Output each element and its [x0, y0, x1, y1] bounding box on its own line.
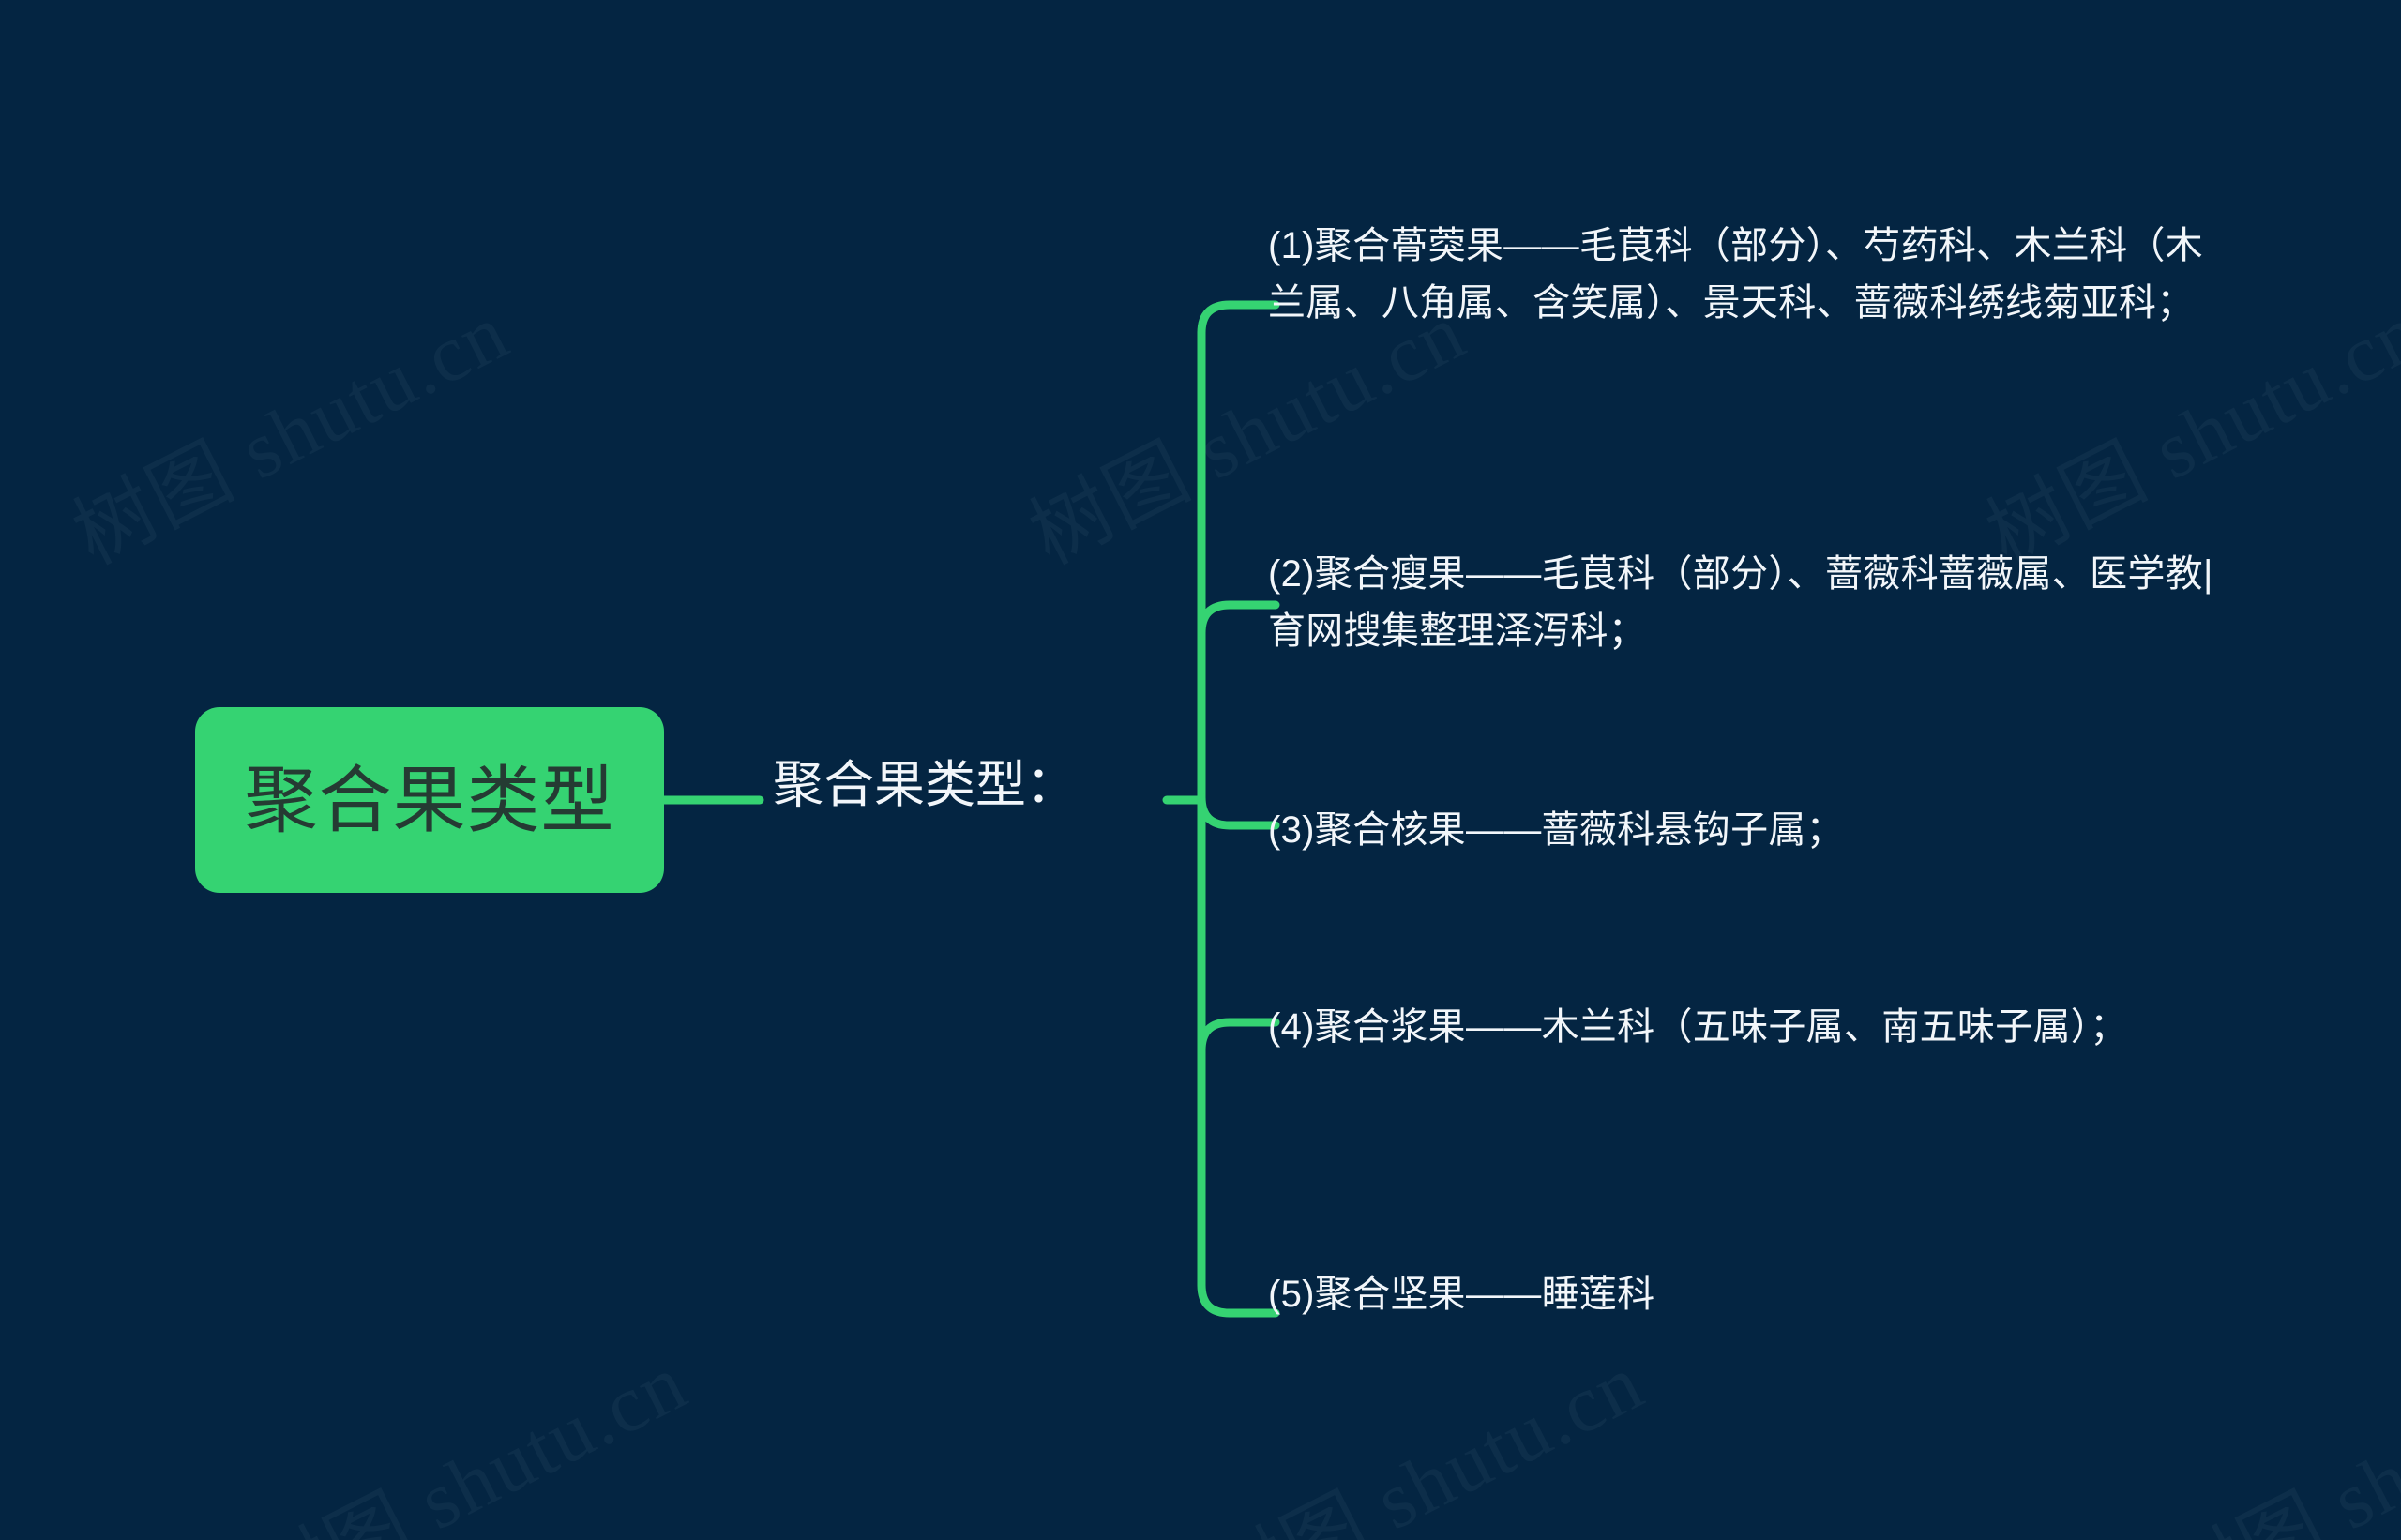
leaf-node-5-label: (5)聚合坚果——睡莲科: [1268, 1274, 1655, 1315]
leaf-node-2[interactable]: (2)聚合瘦果——毛茛科（部分）、蔷薇科蔷薇属、医学教|育网搜集整理泽泻科；: [1268, 546, 2215, 660]
leaf-node-4-label: (4)聚合浆果——木兰科（五味子属、南五味子属）；: [1268, 1006, 2127, 1048]
leaf-node-1[interactable]: (1)聚合蓇葖果——毛茛科（部分）、芍药科、木兰科（木兰属、八角属、含笑属）、景…: [1268, 218, 2215, 332]
leaf-node-3-label: (3)聚合核果——蔷薇科悬钩子属；: [1268, 809, 1844, 851]
connector-leaf-4: [1201, 1022, 1276, 1050]
leaf-node-1-label: (1)聚合蓇葖果——毛茛科（部分）、芍药科、木兰科（木兰属、八角属、含笑属）、景…: [1268, 225, 2203, 324]
connector-leaf-1: [1201, 305, 1276, 333]
connector-leaf-5: [1201, 1285, 1276, 1313]
leaf-node-4[interactable]: (4)聚合浆果——木兰科（五味子属、南五味子属）；: [1268, 999, 2215, 1056]
branch-node[interactable]: 聚合果类型：: [773, 756, 1077, 816]
connector-leaf-3: [1201, 797, 1276, 825]
root-node[interactable]: 聚合果类型: [195, 707, 664, 893]
root-node-label: 聚合果类型: [244, 763, 614, 837]
branch-node-label: 聚合果类型：: [773, 757, 1077, 813]
leaf-node-3[interactable]: (3)聚合核果——蔷薇科悬钩子属；: [1268, 802, 2215, 859]
connector-leaf-2: [1201, 605, 1276, 633]
mindmap-canvas: 聚合果类型 聚合果类型： (1)聚合蓇葖果——毛茛科（部分）、芍药科、木兰科（木…: [0, 0, 2401, 1540]
leaf-node-2-label: (2)聚合瘦果——毛茛科（部分）、蔷薇科蔷薇属、医学教|育网搜集整理泽泻科；: [1268, 553, 2213, 652]
leaf-node-5[interactable]: (5)聚合坚果——睡莲科: [1268, 1266, 2215, 1323]
